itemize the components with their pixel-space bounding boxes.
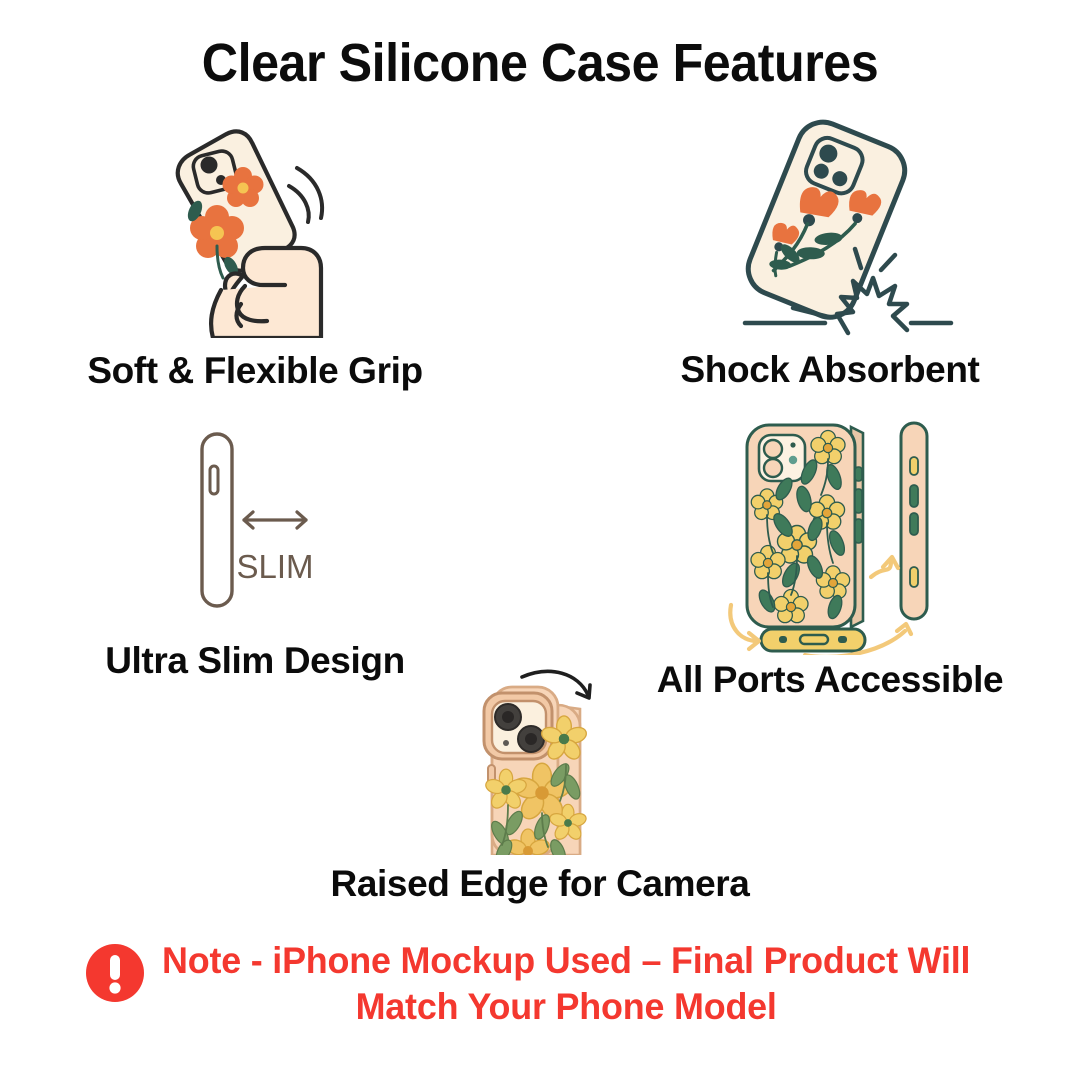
note-text: Note - iPhone Mockup Used – Final Produc… [162,938,970,1031]
feature-shock-absorbent: Shock Absorbent [620,118,1040,391]
phone-drop-impact-icon [705,118,955,343]
feature-label: Shock Absorbent [620,349,1040,391]
motion-arc-icon [289,168,322,222]
note-line-2: Match Your Phone Model [162,984,970,1030]
feature-label: Soft & Flexible Grip [40,350,470,392]
hand-holding-flexing-phone-case-icon [125,118,385,338]
side-button-cutouts [855,467,862,543]
feature-art [40,118,470,338]
exclamation-circle-icon [84,942,146,1009]
slim-annotation-label: SLIM [236,548,313,585]
note-line-1: Note - iPhone Mockup Used – Final Produc… [162,938,970,984]
phone-ports-cutouts-icon [705,415,955,655]
note-banner: Note - iPhone Mockup Used – Final Produc… [0,938,1080,1031]
feature-art [275,665,805,855]
phone-bottom-ports-view [761,629,865,651]
feature-art [615,415,1045,655]
raised-camera-lip-icon [430,665,650,855]
phone-side-profile-slim-icon: SLIM [140,420,370,620]
feature-all-ports-accessible: All Ports Accessible [615,415,1045,701]
feature-soft-flexible-grip: Soft & Flexible Grip [40,118,470,392]
infographic-page: Clear Silicone Case Features [0,0,1080,1080]
phone-side-rail-view [901,423,927,619]
feature-art: SLIM [40,420,470,620]
page-title: Clear Silicone Case Features [38,32,1042,94]
double-arrow-icon [244,512,306,528]
feature-ultra-slim-design: SLIM Ultra Slim Design [40,420,470,682]
feature-label: Raised Edge for Camera [275,863,805,905]
feature-raised-edge-for-camera: Raised Edge for Camera [275,665,805,905]
feature-art [620,118,1040,343]
